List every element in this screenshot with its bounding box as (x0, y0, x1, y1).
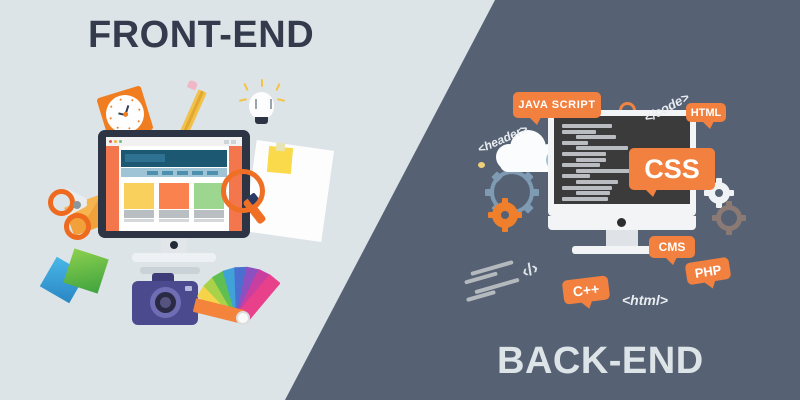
color-swatch-pivot (236, 311, 250, 325)
code-line (562, 141, 588, 145)
page-nav-item (207, 171, 218, 175)
badge-css: CSS (629, 148, 715, 190)
lightbulb-filament (255, 99, 272, 109)
code-line (576, 158, 606, 162)
page-card-footer-line (194, 219, 224, 222)
code-line (562, 152, 606, 156)
badge-javascript: JAVA SCRIPT (513, 92, 601, 118)
sticky-note-tape (276, 143, 286, 152)
code-line (562, 174, 590, 178)
monitor-power-dot (170, 241, 178, 249)
code-line (576, 169, 632, 173)
scissors-pivot (73, 201, 81, 209)
monitor-base (132, 253, 216, 262)
code-line (562, 130, 596, 134)
code-line (576, 146, 628, 150)
scissors-ring-2 (64, 213, 91, 240)
illustration-canvas: FRONT-END BACK-END (0, 0, 800, 400)
front-end-title: FRONT-END (88, 14, 314, 57)
scissors-ring-1 (48, 189, 75, 216)
page-nav-item (177, 171, 188, 175)
page-content-card (159, 183, 189, 209)
lightbulb-ray (243, 83, 248, 91)
front-end-illustration (40, 75, 330, 335)
monitor-power-dot (617, 218, 626, 227)
badge-php: PHP (685, 257, 732, 286)
lightbulb-ray-3 (275, 83, 280, 91)
code-line (562, 197, 608, 201)
window-close-dot (109, 140, 112, 143)
page-sidebar-left (106, 146, 119, 231)
tab-mini-2 (231, 140, 236, 144)
page-content-card (124, 183, 154, 209)
pencil-eraser (187, 80, 198, 91)
code-tag-html: <html> (622, 292, 668, 308)
clock-center-pin (123, 111, 129, 117)
badge-cms: CMS (649, 236, 695, 258)
code-line (562, 124, 612, 128)
back-end-title: BACK-END (497, 340, 704, 383)
badge-html: HTML (686, 103, 726, 122)
magnifier-icon (221, 169, 265, 213)
code-line (576, 135, 616, 139)
lightbulb-ray-5 (277, 98, 285, 102)
page-card-footer (124, 210, 154, 218)
page-content-card (194, 183, 224, 209)
code-line (562, 163, 600, 167)
page-card-footer (194, 210, 224, 218)
badge-cpp: C++ (562, 275, 611, 304)
page-card-footer-line (124, 219, 154, 222)
page-nav-item (162, 171, 173, 175)
page-card-footer (159, 210, 189, 218)
lightbulb-ray-4 (239, 98, 247, 102)
code-line (562, 186, 612, 190)
code-line (576, 180, 618, 184)
page-nav-item (147, 171, 158, 175)
tab-mini-1 (224, 140, 229, 144)
back-end-illustration: ‹/› (460, 70, 790, 330)
lightbulb-ray-2 (261, 79, 263, 87)
browser-tab-bar (106, 137, 242, 146)
page-nav-item (192, 171, 203, 175)
page-header-bar (125, 154, 165, 162)
camera-lens-inner (160, 297, 171, 308)
page-card-footer-line (159, 219, 189, 222)
window-minimize-dot (114, 140, 117, 143)
camera-flash (185, 286, 192, 291)
code-line (576, 191, 610, 195)
lightbulb-base (255, 117, 268, 124)
code-arrow-icon: ‹/› (519, 258, 541, 282)
window-maximize-dot (119, 140, 122, 143)
